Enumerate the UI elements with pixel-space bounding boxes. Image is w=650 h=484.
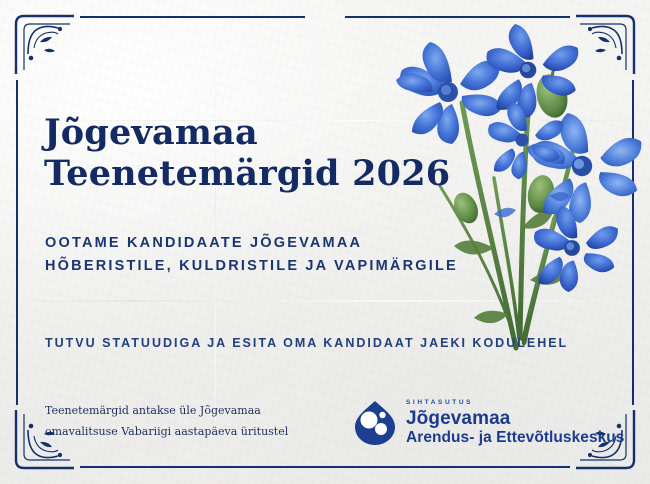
- organization-logo: SIHTASUTUS Jõgevamaa Arendus- ja Ettevõt…: [352, 400, 624, 446]
- ornamental-corner-icon: [574, 14, 636, 76]
- logo-name-line1: Jõgevamaa: [406, 409, 624, 428]
- frame-edge-right: [632, 80, 634, 405]
- footnote-line1: Teenetemärgid antakse üle Jõgevamaa: [45, 401, 305, 421]
- page-title-line2: Teenetemärgid 2026: [44, 153, 474, 194]
- ornamental-corner-icon: [14, 14, 76, 76]
- jaek-droplet-icon: [352, 400, 398, 446]
- frame-edge-left: [16, 80, 18, 405]
- frame-edge-top-right: [345, 16, 570, 18]
- subheading-line2: HÕBERISTILE, KULDRISTILE JA VAPIMÄRGILE: [45, 255, 515, 278]
- page-title-line1: Jõgevamaa: [44, 112, 258, 153]
- logo-name-line2: Arendus- ja Ettevõtluskeskus: [406, 430, 624, 446]
- page-title: Jõgevamaa Teenetemärgid 2026: [44, 112, 474, 195]
- poster-canvas: Jõgevamaa Teenetemärgid 2026 OOTAME KAND…: [0, 0, 650, 484]
- footnote: Teenetemärgid antakse üle Jõgevamaa omav…: [45, 401, 305, 442]
- frame-edge-bottom: [80, 466, 570, 468]
- frame-edge-top-left: [80, 16, 305, 18]
- subheading: OOTAME KANDIDAATE JÕGEVAMAA HÕBERISTILE,…: [45, 232, 515, 279]
- logo-kicker: SIHTASUTUS: [406, 400, 624, 407]
- subheading-line1: OOTAME KANDIDAATE JÕGEVAMAA: [45, 232, 515, 255]
- paper-crease: [0, 300, 650, 302]
- cornflower-bouquet-illustration: [344, 18, 644, 413]
- footnote-line2: omavalitsuse Vabariigi aastapäeva üritus…: [45, 422, 305, 442]
- logo-text-block: SIHTASUTUS Jõgevamaa Arendus- ja Ettevõt…: [406, 400, 624, 446]
- call-to-action-text: TUTVU STATUUDIGA JA ESITA OMA KANDIDAAT …: [45, 336, 605, 350]
